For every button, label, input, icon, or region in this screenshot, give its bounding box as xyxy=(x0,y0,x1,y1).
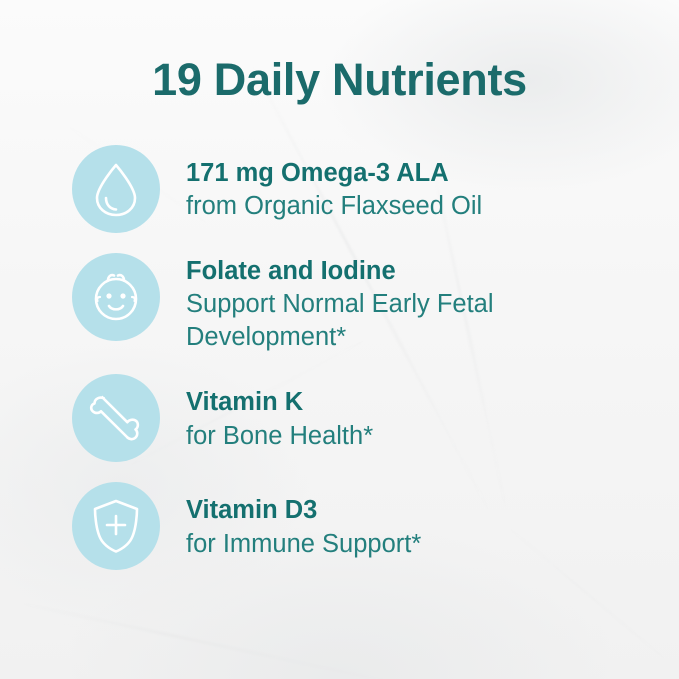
baby-face-icon xyxy=(72,253,160,341)
benefit-subtitle: from Organic Flaxseed Oil xyxy=(186,190,482,223)
page-title: 19 Daily Nutrients xyxy=(0,54,679,106)
benefit-title: 171 mg Omega-3 ALA xyxy=(186,157,482,190)
nutrient-highlights-card: 19 Daily Nutrients 171 mg Omega-3 ALA fr… xyxy=(0,0,679,679)
list-item: 171 mg Omega-3 ALA from Organic Flaxseed… xyxy=(72,145,639,233)
list-item-text: Vitamin D3 for Immune Support* xyxy=(186,482,421,560)
benefit-subtitle: for Bone Health* xyxy=(186,420,373,453)
benefit-subtitle-2: Development* xyxy=(186,321,494,354)
benefit-title: Vitamin K xyxy=(186,386,373,419)
list-item: Vitamin D3 for Immune Support* xyxy=(72,482,639,570)
list-item-text: 171 mg Omega-3 ALA from Organic Flaxseed… xyxy=(186,145,482,223)
benefit-title: Vitamin D3 xyxy=(186,494,421,527)
droplet-icon xyxy=(72,145,160,233)
list-item-text: Vitamin K for Bone Health* xyxy=(186,374,373,452)
benefit-subtitle: Support Normal Early Fetal xyxy=(186,288,494,321)
benefit-title: Folate and Iodine xyxy=(186,255,494,288)
benefit-subtitle: for Immune Support* xyxy=(186,528,421,561)
benefit-list: 171 mg Omega-3 ALA from Organic Flaxseed… xyxy=(72,145,639,590)
marble-vein xyxy=(10,600,421,679)
shield-plus-icon xyxy=(72,482,160,570)
list-item-text: Folate and Iodine Support Normal Early F… xyxy=(186,253,494,354)
bone-icon xyxy=(72,374,160,462)
list-item: Folate and Iodine Support Normal Early F… xyxy=(72,253,639,354)
list-item: Vitamin K for Bone Health* xyxy=(72,374,639,462)
